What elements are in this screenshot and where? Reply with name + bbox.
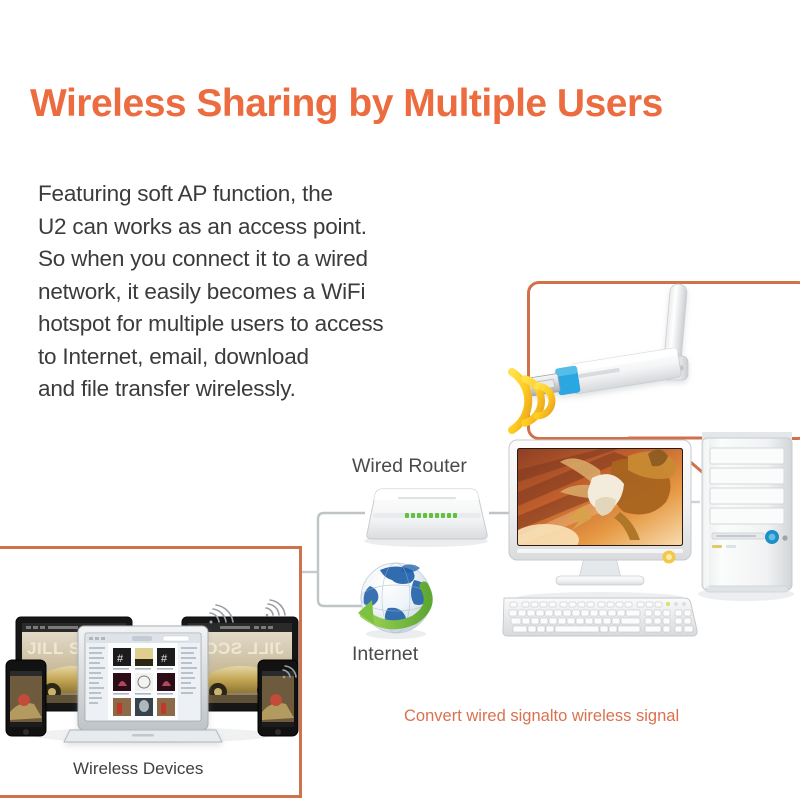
tower-drive-bays bbox=[710, 448, 784, 524]
internet-globe-icon bbox=[358, 563, 431, 639]
globe-landmasses bbox=[364, 564, 428, 627]
tower-power-button[interactable] bbox=[765, 530, 779, 544]
description-line: network, it easily becomes a WiFi bbox=[38, 276, 468, 309]
wired-router-label: Wired Router bbox=[352, 455, 467, 478]
pc-tower bbox=[698, 432, 794, 601]
keyboard-keys bbox=[509, 602, 693, 632]
wired-router bbox=[364, 489, 488, 547]
infographic-page: Wireless Sharing by Multiple Users Featu… bbox=[0, 0, 800, 800]
callout-pointer bbox=[600, 437, 709, 478]
description-line: Featuring soft AP function, the bbox=[38, 178, 468, 211]
description-line: U2 can works as an access point. bbox=[38, 211, 468, 244]
globe-orbit-arrow bbox=[358, 586, 428, 625]
connection-lines bbox=[302, 502, 700, 606]
description-paragraph: Featuring soft AP function, the U2 can w… bbox=[38, 178, 468, 406]
globe-meridians bbox=[361, 563, 431, 633]
description-line: hotspot for multiple users to access bbox=[38, 308, 468, 341]
line-router-to-internet bbox=[318, 513, 368, 606]
page-title: Wireless Sharing by Multiple Users bbox=[30, 82, 663, 126]
wallpaper-creature bbox=[560, 449, 676, 540]
description-line: and file transfer wirelessly. bbox=[38, 373, 468, 406]
description-line: So when you connect it to a wired bbox=[38, 243, 468, 276]
monitor-power-led bbox=[663, 551, 676, 564]
desktop-keyboard bbox=[503, 598, 697, 636]
wireless-devices-label: Wireless Devices bbox=[73, 759, 203, 779]
router-led-indicators bbox=[405, 513, 457, 518]
convert-signal-caption: Convert wired signalto wireless signal bbox=[404, 707, 679, 726]
keyboard-led bbox=[666, 602, 670, 606]
desktop-monitor bbox=[509, 440, 691, 604]
monitor-wallpaper bbox=[511, 449, 682, 556]
usb-adapter-callout-box bbox=[527, 281, 800, 440]
description-line: to Internet, email, download bbox=[38, 341, 468, 374]
internet-label: Internet bbox=[352, 643, 418, 666]
